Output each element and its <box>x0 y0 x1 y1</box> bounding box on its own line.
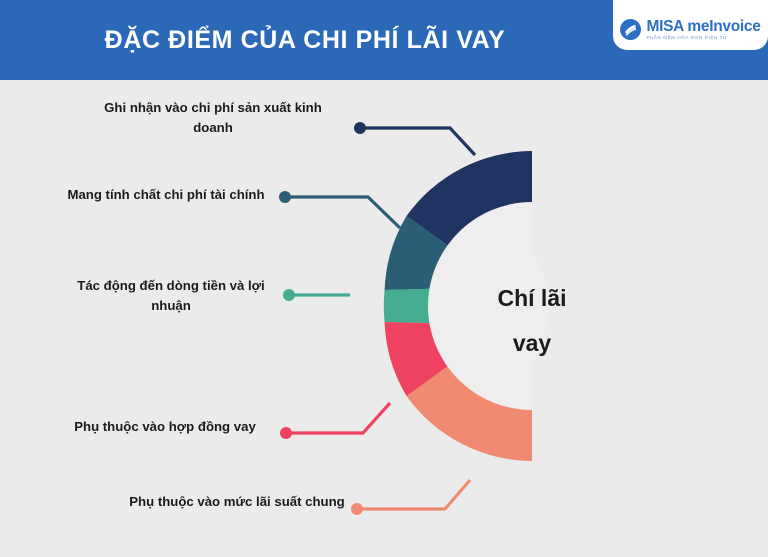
brand-logo: MISA meInvoice PHẦN MỀM HÓA ĐƠN ĐIỆN TỬ <box>613 0 768 50</box>
callout-label-3: Phụ thuộc vào hợp đồng vay <box>56 417 274 437</box>
logo-text: MISA meInvoice PHẦN MỀM HÓA ĐƠN ĐIỆN TỬ <box>646 19 760 41</box>
leader-line-0 <box>354 122 475 155</box>
callout-label-2: Tác động đến dòng tiền và lợi nhuận <box>56 276 286 317</box>
misa-swirl-icon <box>620 19 641 40</box>
leader-line-3 <box>280 403 390 439</box>
page-header: ĐẶC ĐIỂM CỦA CHI PHÍ LÃI VAY MISA meInvo… <box>0 0 768 80</box>
chart-stage: Chí lãi vay Ghi nhận vào chi phí sản xuấ… <box>0 80 768 557</box>
logo-inner: MISA meInvoice PHẦN MỀM HÓA ĐƠN ĐIỆN TỬ <box>620 19 760 41</box>
callout-label-1: Mang tính chất chi phí tài chính <box>42 185 290 205</box>
leader-line-2 <box>283 289 350 301</box>
logo-tagline: PHẦN MỀM HÓA ĐƠN ĐIỆN TỬ <box>646 36 760 41</box>
logo-brand-name: MISA meInvoice <box>646 19 760 35</box>
page-title: ĐẶC ĐIỂM CỦA CHI PHÍ LÃI VAY <box>0 0 610 80</box>
leader-dot-3[interactable] <box>280 427 292 439</box>
half-donut-chart <box>0 80 768 557</box>
callout-label-4: Phụ thuộc vào mức lãi suất chung <box>128 492 346 512</box>
leader-dot-4[interactable] <box>351 503 363 515</box>
leader-dot-0[interactable] <box>354 122 366 134</box>
leader-line-4 <box>351 480 470 515</box>
callout-label-0: Ghi nhận vào chi phí sản xuất kinh doanh <box>88 98 338 139</box>
leader-line-1 <box>279 191 400 228</box>
